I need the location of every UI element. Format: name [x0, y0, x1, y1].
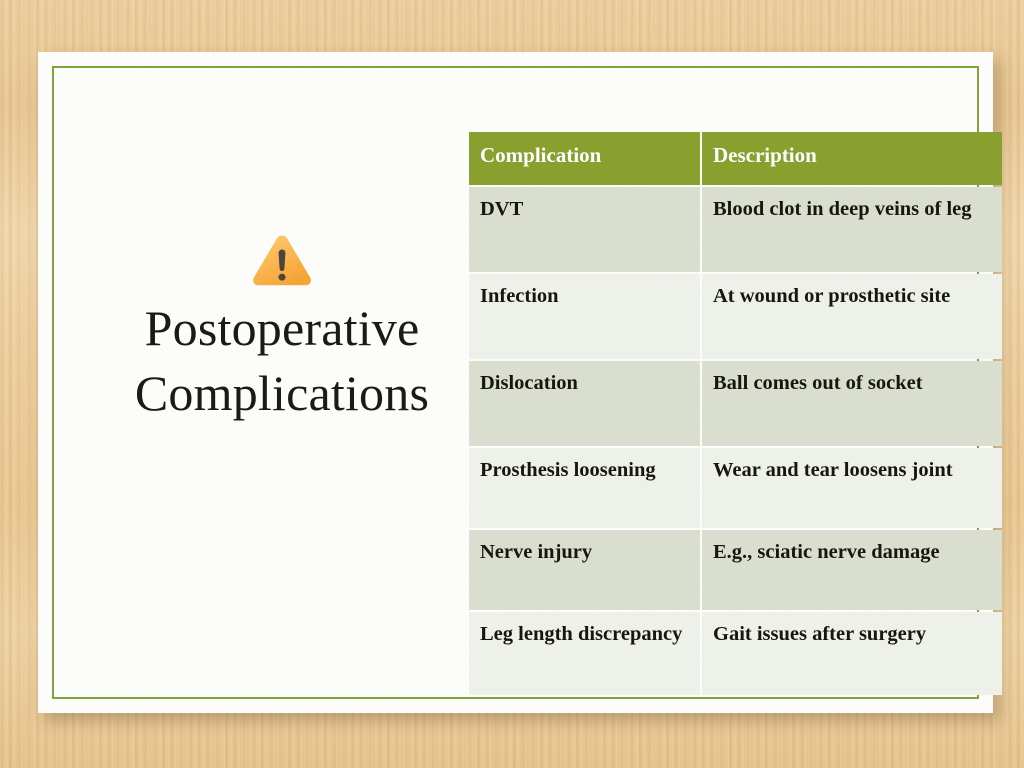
table-header-row: Complication Description [469, 132, 1002, 185]
cell-description: Blood clot in deep veins of leg [702, 187, 1002, 272]
cell-complication: Prosthesis loosening [469, 448, 700, 528]
slide-root: Postoperative Complications Complication… [0, 0, 1024, 768]
cell-description: E.g., sciatic nerve damage [702, 530, 1002, 610]
table-row: Leg length discrepancy Gait issues after… [469, 612, 1002, 695]
cell-complication: DVT [469, 187, 700, 272]
cell-description: Wear and tear loosens joint [702, 448, 1002, 528]
cell-description: Gait issues after surgery [702, 612, 1002, 695]
table-row: DVT Blood clot in deep veins of leg [469, 187, 1002, 272]
table-row: Nerve injury E.g., sciatic nerve damage [469, 530, 1002, 610]
cell-complication: Leg length discrepancy [469, 612, 700, 695]
cell-complication: Nerve injury [469, 530, 700, 610]
title-block: Postoperative Complications [92, 232, 472, 426]
column-header-description: Description [702, 132, 1002, 185]
page-title: Postoperative Complications [92, 296, 472, 426]
cell-complication: Infection [469, 274, 700, 359]
cell-description: At wound or prosthetic site [702, 274, 1002, 359]
table-header: Complication Description [469, 132, 1002, 185]
slide-card: Postoperative Complications Complication… [38, 52, 993, 713]
table-body: DVT Blood clot in deep veins of leg Infe… [469, 187, 1002, 695]
cell-complication: Dislocation [469, 361, 700, 446]
table-row: Prosthesis loosening Wear and tear loose… [469, 448, 1002, 528]
column-header-complication: Complication [469, 132, 700, 185]
warning-triangle-icon [251, 232, 313, 288]
cell-description: Ball comes out of socket [702, 361, 1002, 446]
complications-table: Complication Description DVT Blood clot … [467, 130, 1004, 697]
table-row: Infection At wound or prosthetic site [469, 274, 1002, 359]
table-row: Dislocation Ball comes out of socket [469, 361, 1002, 446]
